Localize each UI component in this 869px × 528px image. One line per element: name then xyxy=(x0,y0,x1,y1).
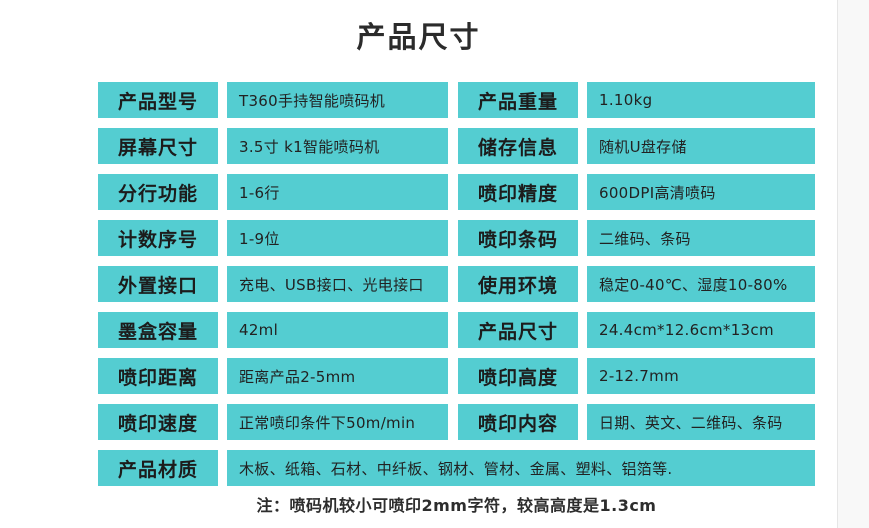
table-row: 墨盒容量 42ml 产品尺寸 24.4cm*12.6cm*13cm xyxy=(98,312,815,348)
table-row: 外置接口 充电、USB接口、光电接口 使用环境 稳定0-40℃、湿度10-80% xyxy=(98,266,815,302)
spec-value: T360手持智能喷码机 xyxy=(227,82,448,118)
spec-label: 外置接口 xyxy=(98,266,218,302)
spec-value: 正常喷印条件下50m/min xyxy=(227,404,448,440)
table-row: 计数序号 1-9位 喷印条码 二维码、条码 xyxy=(98,220,815,256)
spec-label: 产品材质 xyxy=(98,450,218,486)
footnote: 注：喷码机较小可喷印2mm字符，较高高度是1.3cm xyxy=(98,492,815,516)
page-gutter xyxy=(837,0,869,528)
spec-label: 喷印速度 xyxy=(98,404,218,440)
spec-label: 产品型号 xyxy=(98,82,218,118)
table-row: 产品型号 T360手持智能喷码机 产品重量 1.10kg xyxy=(98,82,815,118)
spec-pair-right: 产品重量 1.10kg xyxy=(458,82,815,118)
spec-pair-left: 喷印速度 正常喷印条件下50m/min xyxy=(98,404,448,440)
spec-pair-full: 产品材质 木板、纸箱、石材、中纤板、钢材、管材、金属、塑料、铝箔等. xyxy=(98,450,815,486)
table-row: 喷印速度 正常喷印条件下50m/min 喷印内容 日期、英文、二维码、条码 xyxy=(98,404,815,440)
table-row: 分行功能 1-6行 喷印精度 600DPI高清喷码 xyxy=(98,174,815,210)
spec-label: 使用环境 xyxy=(458,266,578,302)
spec-value: 2-12.7mm xyxy=(587,358,815,394)
spec-pair-left: 屏幕尺寸 3.5寸 k1智能喷码机 xyxy=(98,128,448,164)
spec-pair-left: 喷印距离 距离产品2-5mm xyxy=(98,358,448,394)
spec-value: 1-9位 xyxy=(227,220,448,256)
spec-value: 600DPI高清喷码 xyxy=(587,174,815,210)
spec-label: 计数序号 xyxy=(98,220,218,256)
spec-value: 二维码、条码 xyxy=(587,220,815,256)
spec-sheet: 产品尺寸 产品型号 T360手持智能喷码机 产品重量 1.10kg 屏幕尺寸 3… xyxy=(0,0,837,528)
spec-label: 墨盒容量 xyxy=(98,312,218,348)
spec-value: 1.10kg xyxy=(587,82,815,118)
specification-table: 产品型号 T360手持智能喷码机 产品重量 1.10kg 屏幕尺寸 3.5寸 k… xyxy=(98,82,815,496)
spec-value: 距离产品2-5mm xyxy=(227,358,448,394)
spec-value: 充电、USB接口、光电接口 xyxy=(227,266,448,302)
spec-pair-right: 使用环境 稳定0-40℃、湿度10-80% xyxy=(458,266,815,302)
spec-pair-right: 喷印内容 日期、英文、二维码、条码 xyxy=(458,404,815,440)
spec-pair-left: 产品型号 T360手持智能喷码机 xyxy=(98,82,448,118)
spec-label: 喷印条码 xyxy=(458,220,578,256)
spec-label: 喷印内容 xyxy=(458,404,578,440)
spec-value: 木板、纸箱、石材、中纤板、钢材、管材、金属、塑料、铝箔等. xyxy=(227,450,815,486)
spec-pair-left: 外置接口 充电、USB接口、光电接口 xyxy=(98,266,448,302)
spec-value: 日期、英文、二维码、条码 xyxy=(587,404,815,440)
spec-pair-right: 产品尺寸 24.4cm*12.6cm*13cm xyxy=(458,312,815,348)
spec-pair-left: 计数序号 1-9位 xyxy=(98,220,448,256)
spec-pair-right: 喷印条码 二维码、条码 xyxy=(458,220,815,256)
table-row: 屏幕尺寸 3.5寸 k1智能喷码机 储存信息 随机U盘存储 xyxy=(98,128,815,164)
spec-label: 储存信息 xyxy=(458,128,578,164)
spec-label: 喷印距离 xyxy=(98,358,218,394)
spec-value: 3.5寸 k1智能喷码机 xyxy=(227,128,448,164)
spec-pair-right: 喷印精度 600DPI高清喷码 xyxy=(458,174,815,210)
spec-label: 产品重量 xyxy=(458,82,578,118)
spec-value: 24.4cm*12.6cm*13cm xyxy=(587,312,815,348)
page-title: 产品尺寸 xyxy=(0,0,837,57)
table-row: 喷印距离 距离产品2-5mm 喷印高度 2-12.7mm xyxy=(98,358,815,394)
spec-value: 随机U盘存储 xyxy=(587,128,815,164)
spec-label: 产品尺寸 xyxy=(458,312,578,348)
table-row-materials: 产品材质 木板、纸箱、石材、中纤板、钢材、管材、金属、塑料、铝箔等. xyxy=(98,450,815,486)
spec-label: 分行功能 xyxy=(98,174,218,210)
spec-value: 42ml xyxy=(227,312,448,348)
spec-label: 喷印高度 xyxy=(458,358,578,394)
spec-label: 屏幕尺寸 xyxy=(98,128,218,164)
spec-value: 1-6行 xyxy=(227,174,448,210)
spec-value: 稳定0-40℃、湿度10-80% xyxy=(587,266,815,302)
spec-pair-left: 分行功能 1-6行 xyxy=(98,174,448,210)
spec-pair-right: 储存信息 随机U盘存储 xyxy=(458,128,815,164)
spec-pair-right: 喷印高度 2-12.7mm xyxy=(458,358,815,394)
spec-label: 喷印精度 xyxy=(458,174,578,210)
spec-pair-left: 墨盒容量 42ml xyxy=(98,312,448,348)
